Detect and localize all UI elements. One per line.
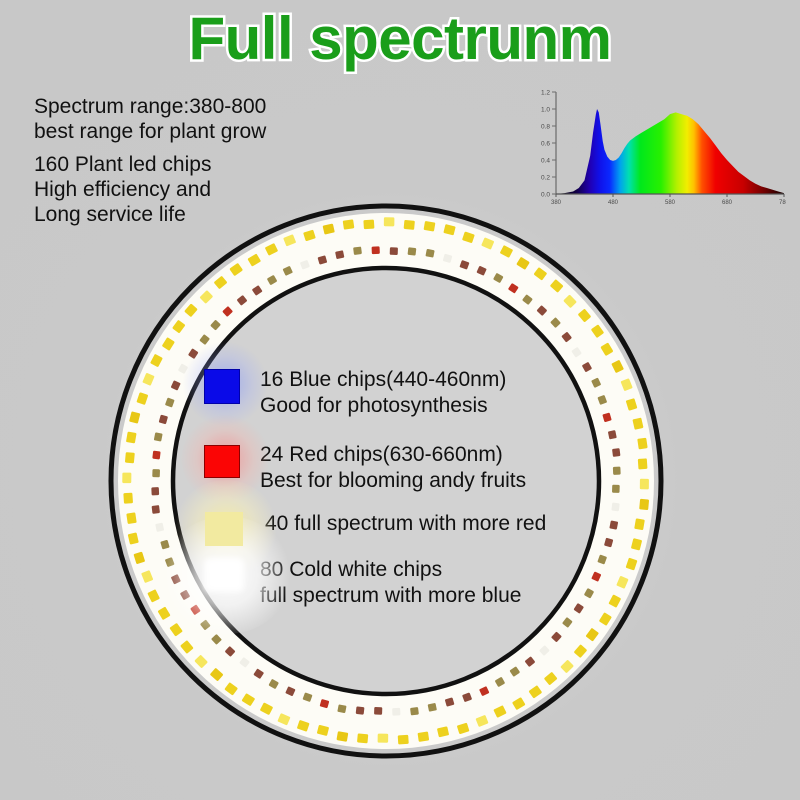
led-chip bbox=[392, 708, 400, 716]
legend-warm-white-line-1: 40 full spectrum with more red bbox=[265, 511, 546, 537]
led-chip bbox=[424, 221, 436, 232]
led-chip bbox=[640, 479, 649, 490]
led-chip bbox=[638, 458, 648, 469]
led-chip bbox=[398, 735, 409, 745]
chart-series-area bbox=[556, 109, 784, 194]
led-chip bbox=[356, 706, 365, 714]
led-chip bbox=[126, 432, 137, 444]
legend-text-cold-white: 80 Cold white chips full spectrum with m… bbox=[260, 556, 521, 609]
led-chip bbox=[335, 250, 344, 259]
led-chip bbox=[390, 247, 398, 255]
svg-text:0.8: 0.8 bbox=[541, 124, 550, 131]
led-chip bbox=[378, 734, 389, 743]
led-chip bbox=[122, 473, 131, 484]
legend-swatch-wrap-blue bbox=[204, 366, 260, 404]
legend: 16 Blue chips(440-460nm) Good for photos… bbox=[204, 366, 624, 609]
led-chip bbox=[634, 518, 645, 530]
spectrum-chart-svg: 0.00.20.40.60.81.01.2 380480580680780 bbox=[528, 86, 786, 208]
red-chip-swatch-icon bbox=[204, 445, 240, 478]
led-chip bbox=[363, 220, 374, 230]
led-chip bbox=[126, 512, 136, 524]
chart-y-tick-labels: 0.00.20.40.60.81.01.2 bbox=[541, 90, 556, 199]
product-infographic: Full spectrunm Spectrum range:380-800 be… bbox=[0, 0, 800, 800]
svg-text:1.2: 1.2 bbox=[541, 90, 550, 97]
led-chip bbox=[151, 487, 159, 495]
svg-text:680: 680 bbox=[722, 200, 733, 206]
led-chip bbox=[152, 505, 160, 514]
legend-red-line-1: 24 Red chips(630-660nm) bbox=[260, 442, 526, 468]
legend-swatch-wrap-warm-white bbox=[204, 510, 260, 546]
led-chip bbox=[337, 704, 346, 713]
legend-text-blue: 16 Blue chips(440-460nm) Good for photos… bbox=[260, 366, 506, 419]
led-chip bbox=[384, 217, 395, 226]
warm-white-chip-swatch-icon bbox=[205, 512, 243, 546]
spectrum-chart: 0.00.20.40.60.81.01.2 380480580680780 bbox=[528, 86, 786, 208]
legend-item-warm-white: 40 full spectrum with more red bbox=[204, 510, 624, 546]
svg-text:0.4: 0.4 bbox=[541, 158, 550, 165]
spectrum-range-text: Spectrum range:380-800 best range for pl… bbox=[34, 94, 266, 144]
legend-item-cold-white: 80 Cold white chips full spectrum with m… bbox=[204, 556, 624, 609]
svg-text:780: 780 bbox=[779, 200, 786, 206]
legend-red-line-2: Best for blooming andy fruits bbox=[260, 468, 526, 494]
led-chip bbox=[637, 438, 647, 450]
legend-blue-line-2: Good for photosynthesis bbox=[260, 393, 506, 419]
led-chip bbox=[152, 469, 160, 477]
led-chip bbox=[152, 451, 160, 460]
legend-cold-white-line-2: full spectrum with more blue bbox=[260, 583, 521, 609]
page-title: Full spectrunm bbox=[0, 4, 800, 73]
legend-text-warm-white: 40 full spectrum with more red bbox=[260, 510, 546, 537]
led-chip bbox=[336, 731, 348, 742]
cold-white-chip-swatch-icon bbox=[204, 558, 244, 592]
svg-text:0.6: 0.6 bbox=[541, 141, 550, 148]
led-chip bbox=[408, 247, 417, 255]
led-chip bbox=[372, 246, 380, 254]
led-chip bbox=[410, 707, 419, 715]
svg-text:1.0: 1.0 bbox=[541, 107, 550, 114]
led-chip bbox=[418, 731, 430, 741]
led-chip bbox=[425, 249, 434, 258]
spectrum-range-line-2: best range for plant grow bbox=[34, 119, 266, 144]
led-chip bbox=[357, 733, 368, 743]
legend-swatch-wrap-cold-white bbox=[204, 556, 260, 592]
legend-item-blue: 16 Blue chips(440-460nm) Good for photos… bbox=[204, 366, 624, 419]
led-chip bbox=[404, 220, 415, 230]
led-chip bbox=[155, 523, 164, 532]
legend-cold-white-line-1: 80 Cold white chips bbox=[260, 557, 521, 583]
led-chip bbox=[639, 499, 649, 510]
led-chip bbox=[154, 432, 163, 441]
spectrum-range-line-1: Spectrum range:380-800 bbox=[34, 94, 266, 119]
legend-swatch-wrap-red bbox=[204, 441, 260, 478]
led-chip bbox=[125, 452, 135, 463]
led-chip bbox=[343, 219, 355, 229]
legend-blue-line-1: 16 Blue chips(440-460nm) bbox=[260, 367, 506, 393]
led-chip bbox=[123, 493, 133, 504]
legend-text-red: 24 Red chips(630-660nm) Best for bloomin… bbox=[260, 441, 526, 494]
led-chip bbox=[428, 703, 437, 712]
svg-text:0.2: 0.2 bbox=[541, 175, 550, 182]
legend-item-red: 24 Red chips(630-660nm) Best for bloomin… bbox=[204, 441, 624, 494]
led-chip bbox=[353, 247, 362, 255]
chip-count-line-1: 160 Plant led chips bbox=[34, 152, 211, 177]
blue-chip-swatch-icon bbox=[204, 369, 240, 404]
led-chip bbox=[374, 707, 382, 715]
